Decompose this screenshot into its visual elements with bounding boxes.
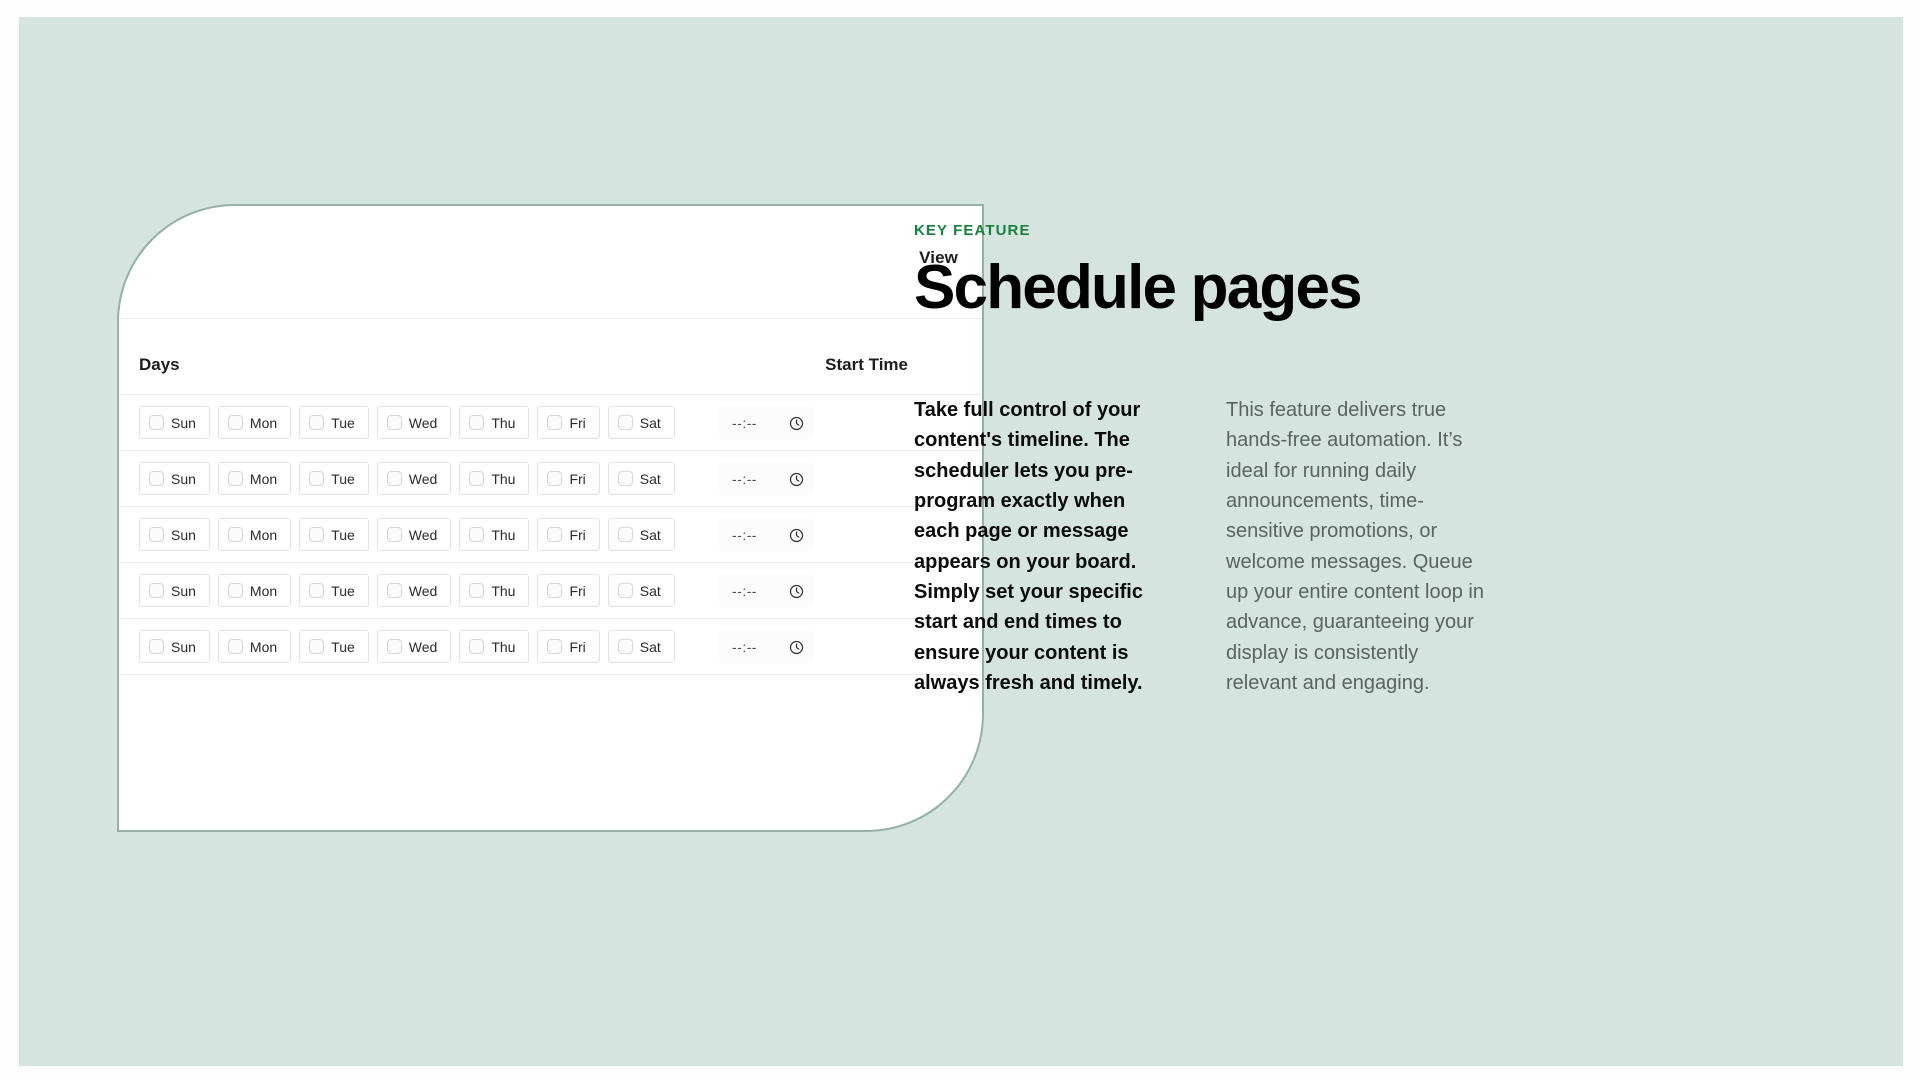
body-paragraph-regular: This feature delivers true hands-free au…: [1226, 395, 1488, 699]
day-chip-label: Tue: [331, 416, 355, 430]
day-chip-sun[interactable]: Sun: [139, 406, 210, 439]
schedule-screenshot-card: View Days Start Time SunMonTueWedThuFriS…: [117, 204, 984, 832]
day-chip-sat[interactable]: Sat: [608, 630, 675, 663]
day-chip-label: Thu: [491, 640, 515, 654]
day-chip-label: Wed: [409, 472, 438, 486]
day-chip-wed[interactable]: Wed: [377, 574, 452, 607]
start-time-input[interactable]: --:--: [718, 574, 814, 608]
day-chip-sat[interactable]: Sat: [608, 462, 675, 495]
day-chip-label: Sun: [171, 584, 196, 598]
schedule-row: SunMonTueWedThuFriSat--:--: [119, 619, 982, 675]
mint-background-panel: View Days Start Time SunMonTueWedThuFriS…: [19, 17, 1903, 1066]
checkbox-icon[interactable]: [547, 471, 562, 486]
start-time-value: --:--: [732, 527, 757, 543]
start-time-input[interactable]: --:--: [718, 406, 814, 440]
day-chip-fri[interactable]: Fri: [537, 630, 599, 663]
day-chip-sun[interactable]: Sun: [139, 518, 210, 551]
day-chip-label: Wed: [409, 528, 438, 542]
checkbox-icon[interactable]: [469, 471, 484, 486]
day-chip-fri[interactable]: Fri: [537, 574, 599, 607]
day-chip-label: Fri: [569, 640, 585, 654]
day-chip-label: Sun: [171, 416, 196, 430]
checkbox-icon[interactable]: [387, 583, 402, 598]
day-chip-mon[interactable]: Mon: [218, 406, 291, 439]
schedule-row: SunMonTueWedThuFriSat--:--: [119, 507, 982, 563]
day-chip-wed[interactable]: Wed: [377, 406, 452, 439]
day-chip-wed[interactable]: Wed: [377, 630, 452, 663]
day-chip-thu[interactable]: Thu: [459, 518, 529, 551]
start-time-value: --:--: [732, 415, 757, 431]
day-chip-label: Thu: [491, 416, 515, 430]
day-chip-label: Thu: [491, 528, 515, 542]
day-chip-thu[interactable]: Thu: [459, 574, 529, 607]
checkbox-icon[interactable]: [149, 583, 164, 598]
day-chip-label: Tue: [331, 584, 355, 598]
card-header: View: [119, 206, 982, 319]
day-chip-label: Sat: [640, 584, 661, 598]
day-chip-label: Sat: [640, 416, 661, 430]
checkbox-icon[interactable]: [547, 527, 562, 542]
checkbox-icon[interactable]: [228, 471, 243, 486]
checkbox-icon[interactable]: [547, 639, 562, 654]
checkbox-icon[interactable]: [618, 583, 633, 598]
day-chip-sat[interactable]: Sat: [608, 406, 675, 439]
day-chip-tue[interactable]: Tue: [299, 406, 369, 439]
checkbox-icon[interactable]: [469, 415, 484, 430]
day-chip-label: Fri: [569, 416, 585, 430]
day-chip-label: Fri: [569, 584, 585, 598]
clock-icon[interactable]: [789, 640, 804, 655]
start-time-value: --:--: [732, 583, 757, 599]
day-checkbox-group: SunMonTueWedThuFriSat: [139, 462, 675, 495]
day-checkbox-group: SunMonTueWedThuFriSat: [139, 406, 675, 439]
day-chip-mon[interactable]: Mon: [218, 574, 291, 607]
start-time-input[interactable]: --:--: [718, 630, 814, 664]
page-title: Schedule pages: [914, 255, 1554, 321]
checkbox-icon[interactable]: [469, 583, 484, 598]
checkbox-icon[interactable]: [618, 527, 633, 542]
schedule-row: SunMonTueWedThuFriSat--:--: [119, 451, 982, 507]
checkbox-icon[interactable]: [149, 639, 164, 654]
day-chip-fri[interactable]: Fri: [537, 462, 599, 495]
day-chip-sat[interactable]: Sat: [608, 574, 675, 607]
day-chip-label: Sun: [171, 640, 196, 654]
day-chip-fri[interactable]: Fri: [537, 406, 599, 439]
day-checkbox-group: SunMonTueWedThuFriSat: [139, 630, 675, 663]
day-chip-label: Sat: [640, 640, 661, 654]
day-chip-label: Sun: [171, 472, 196, 486]
eyebrow-label: KEY FEATURE: [914, 222, 1554, 239]
schedule-rows: SunMonTueWedThuFriSat--:--SunMonTueWedTh…: [119, 395, 982, 675]
start-time-value: --:--: [732, 471, 757, 487]
checkbox-icon[interactable]: [309, 471, 324, 486]
checkbox-icon[interactable]: [149, 471, 164, 486]
checkbox-icon[interactable]: [228, 415, 243, 430]
clock-icon[interactable]: [789, 416, 804, 431]
checkbox-icon[interactable]: [228, 527, 243, 542]
day-chip-label: Sat: [640, 472, 661, 486]
day-chip-mon[interactable]: Mon: [218, 630, 291, 663]
day-chip-sun[interactable]: Sun: [139, 574, 210, 607]
day-chip-thu[interactable]: Thu: [459, 406, 529, 439]
checkbox-icon[interactable]: [387, 527, 402, 542]
day-chip-label: Mon: [250, 472, 277, 486]
clock-icon[interactable]: [789, 472, 804, 487]
clock-icon[interactable]: [789, 528, 804, 543]
day-chip-label: Fri: [569, 472, 585, 486]
day-chip-sun[interactable]: Sun: [139, 462, 210, 495]
day-chip-sat[interactable]: Sat: [608, 518, 675, 551]
day-chip-sun[interactable]: Sun: [139, 630, 210, 663]
day-chip-tue[interactable]: Tue: [299, 630, 369, 663]
day-chip-label: Sat: [640, 528, 661, 542]
start-time-value: --:--: [732, 639, 757, 655]
day-chip-label: Mon: [250, 528, 277, 542]
checkbox-icon[interactable]: [149, 527, 164, 542]
checkbox-icon[interactable]: [387, 639, 402, 654]
checkbox-icon[interactable]: [228, 639, 243, 654]
day-chip-label: Wed: [409, 416, 438, 430]
day-chip-label: Thu: [491, 472, 515, 486]
checkbox-icon[interactable]: [469, 527, 484, 542]
day-chip-label: Thu: [491, 584, 515, 598]
checkbox-icon[interactable]: [618, 415, 633, 430]
table-column-header: Days Start Time: [119, 319, 982, 395]
day-chip-label: Fri: [569, 528, 585, 542]
day-checkbox-group: SunMonTueWedThuFriSat: [139, 518, 675, 551]
day-chip-label: Mon: [250, 416, 277, 430]
day-chip-label: Tue: [331, 640, 355, 654]
checkbox-icon[interactable]: [618, 471, 633, 486]
day-chip-label: Mon: [250, 584, 277, 598]
day-chip-label: Tue: [331, 472, 355, 486]
checkbox-icon[interactable]: [309, 639, 324, 654]
day-chip-label: Sun: [171, 528, 196, 542]
schedule-row: SunMonTueWedThuFriSat--:--: [119, 395, 982, 451]
checkbox-icon[interactable]: [618, 639, 633, 654]
body-columns: Take full control of your content's time…: [914, 395, 1554, 699]
checkbox-icon[interactable]: [309, 527, 324, 542]
checkbox-icon[interactable]: [309, 415, 324, 430]
day-chip-wed[interactable]: Wed: [377, 462, 452, 495]
checkbox-icon[interactable]: [387, 471, 402, 486]
day-chip-label: Tue: [331, 528, 355, 542]
day-chip-fri[interactable]: Fri: [537, 518, 599, 551]
day-chip-label: Wed: [409, 640, 438, 654]
day-checkbox-group: SunMonTueWedThuFriSat: [139, 574, 675, 607]
body-paragraph-bold: Take full control of your content's time…: [914, 395, 1146, 699]
clock-icon[interactable]: [789, 584, 804, 599]
day-chip-thu[interactable]: Thu: [459, 630, 529, 663]
day-chip-tue[interactable]: Tue: [299, 574, 369, 607]
checkbox-icon[interactable]: [469, 639, 484, 654]
day-chip-tue[interactable]: Tue: [299, 518, 369, 551]
checkbox-icon[interactable]: [547, 583, 562, 598]
day-chip-thu[interactable]: Thu: [459, 462, 529, 495]
day-chip-tue[interactable]: Tue: [299, 462, 369, 495]
schedule-row: SunMonTueWedThuFriSat--:--: [119, 563, 982, 619]
feature-content: KEY FEATURE Schedule pages Take full con…: [914, 222, 1554, 699]
day-chip-label: Mon: [250, 640, 277, 654]
checkbox-icon[interactable]: [547, 415, 562, 430]
start-time-input[interactable]: --:--: [718, 462, 814, 496]
checkbox-icon[interactable]: [149, 415, 164, 430]
day-chip-wed[interactable]: Wed: [377, 518, 452, 551]
checkbox-icon[interactable]: [228, 583, 243, 598]
column-header-days: Days: [139, 355, 180, 375]
day-chip-label: Wed: [409, 584, 438, 598]
column-header-start-time: Start Time: [825, 355, 908, 375]
day-chip-mon[interactable]: Mon: [218, 518, 291, 551]
day-chip-mon[interactable]: Mon: [218, 462, 291, 495]
start-time-input[interactable]: --:--: [718, 518, 814, 552]
checkbox-icon[interactable]: [387, 415, 402, 430]
checkbox-icon[interactable]: [309, 583, 324, 598]
